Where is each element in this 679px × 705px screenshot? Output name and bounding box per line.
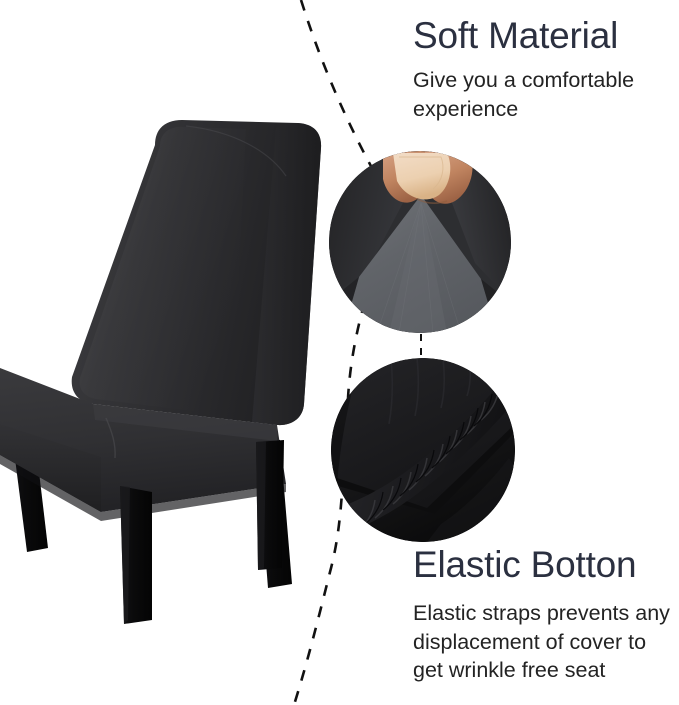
pinched-fabric-closeup-image	[329, 151, 511, 333]
feature-description-soft-material: Give you a comfortable experience	[413, 66, 675, 123]
feature-description-elastic-bottom: Elastic straps prevents any displacement…	[413, 599, 679, 685]
callout-circle-soft-material	[329, 151, 511, 333]
fingers-pinching	[383, 151, 473, 204]
chair-product-photo	[0, 0, 340, 640]
feature-block-elastic-bottom: Elastic Botton Elastic straps prevents a…	[413, 545, 679, 685]
feature-block-soft-material: Soft Material Give you a comfortable exp…	[413, 16, 675, 123]
feature-title-elastic-bottom: Elastic Botton	[413, 545, 679, 585]
callout-circle-elastic-bottom	[331, 358, 515, 542]
feature-title-soft-material: Soft Material	[413, 16, 675, 56]
elastic-hem-closeup-image	[331, 358, 515, 542]
dashed-vertical-connector	[420, 334, 422, 358]
product-infographic: Soft Material Give you a comfortable exp…	[0, 0, 679, 705]
chair-illustration	[0, 0, 340, 640]
chair-back-cover	[72, 120, 321, 425]
